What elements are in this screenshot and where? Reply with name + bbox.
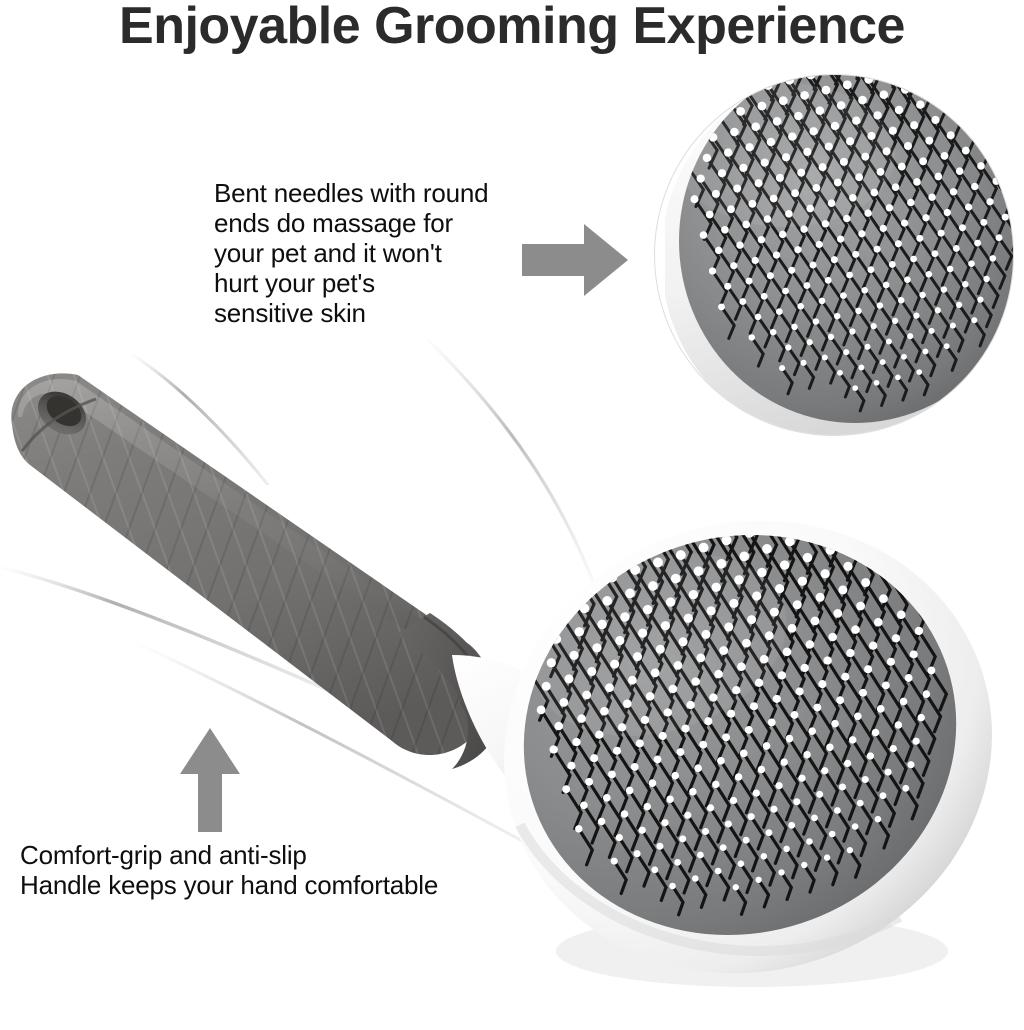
callout-comfort-grip: Comfort-grip and anti-slip Handle keeps …	[20, 840, 500, 900]
page-title: Enjoyable Grooming Experience	[0, 0, 1024, 54]
up-arrow-icon	[178, 726, 242, 834]
right-arrow-icon	[522, 222, 630, 298]
callout-bent-needles: Bent needles with round ends do massage …	[214, 178, 544, 328]
pet-brush-product-image	[0, 355, 1024, 1030]
product-infographic: Enjoyable Grooming Experience	[0, 0, 1024, 1030]
